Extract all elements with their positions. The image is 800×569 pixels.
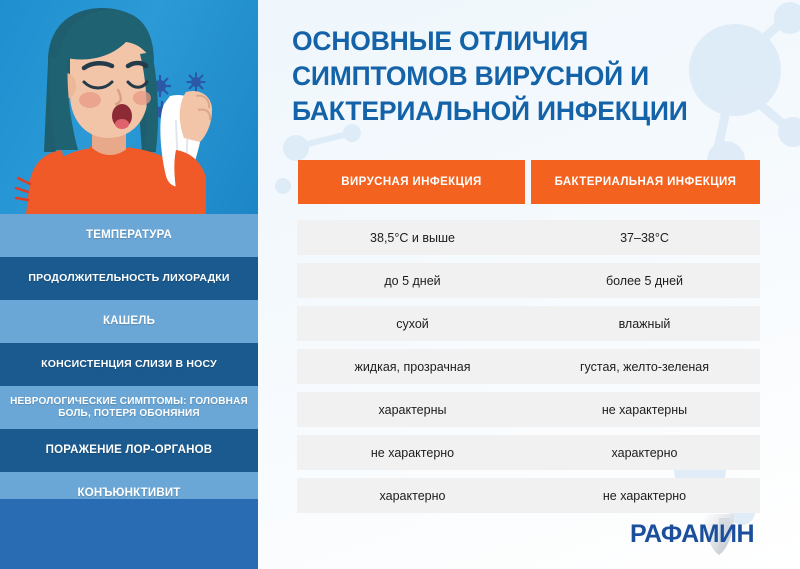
brand-logo: РАФАМИН <box>612 512 772 556</box>
cell-viral: 38,5°С и выше <box>297 220 528 255</box>
cell-bacterial: не характерно <box>529 478 760 513</box>
infographic-page: ТЕМПЕРАТУРАПРОДОЛЖИТЕЛЬНОСТЬ ЛИХОРАДКИКА… <box>0 0 800 569</box>
cell-bacterial: влажный <box>529 306 760 341</box>
table-row: сухойвлажный <box>297 306 760 341</box>
column-header-bacterial: БАКТЕРИАЛЬНАЯ ИНФЕКЦИЯ <box>531 160 760 204</box>
cell-viral: до 5 дней <box>297 263 528 298</box>
cell-viral: характерны <box>297 392 528 427</box>
table-row: 38,5°С и выше37–38°С <box>297 220 760 255</box>
cell-viral: сухой <box>297 306 528 341</box>
cell-bacterial: характерно <box>529 435 760 470</box>
table-row: характерныне характерны <box>297 392 760 427</box>
cell-bacterial: не характерны <box>529 392 760 427</box>
table-row: не характернохарактерно <box>297 435 760 470</box>
table-row: до 5 днейболее 5 дней <box>297 263 760 298</box>
table-row: жидкая, прозрачнаягустая, желто-зеленая <box>297 349 760 384</box>
table-row: характерноне характерно <box>297 478 760 513</box>
column-header-viral: ВИРУСНАЯ ИНФЕКЦИЯ <box>298 160 525 204</box>
cell-bacterial: густая, желто-зеленая <box>529 349 760 384</box>
cell-bacterial: более 5 дней <box>529 263 760 298</box>
cell-viral: характерно <box>297 478 528 513</box>
brand-logo-text: РАФАМИН <box>630 520 754 549</box>
comparison-table: ВИРУСНАЯ ИНФЕКЦИЯ БАКТЕРИАЛЬНАЯ ИНФЕКЦИЯ… <box>0 0 800 569</box>
cell-viral: жидкая, прозрачная <box>297 349 528 384</box>
cell-viral: не характерно <box>297 435 528 470</box>
cell-bacterial: 37–38°С <box>529 220 760 255</box>
